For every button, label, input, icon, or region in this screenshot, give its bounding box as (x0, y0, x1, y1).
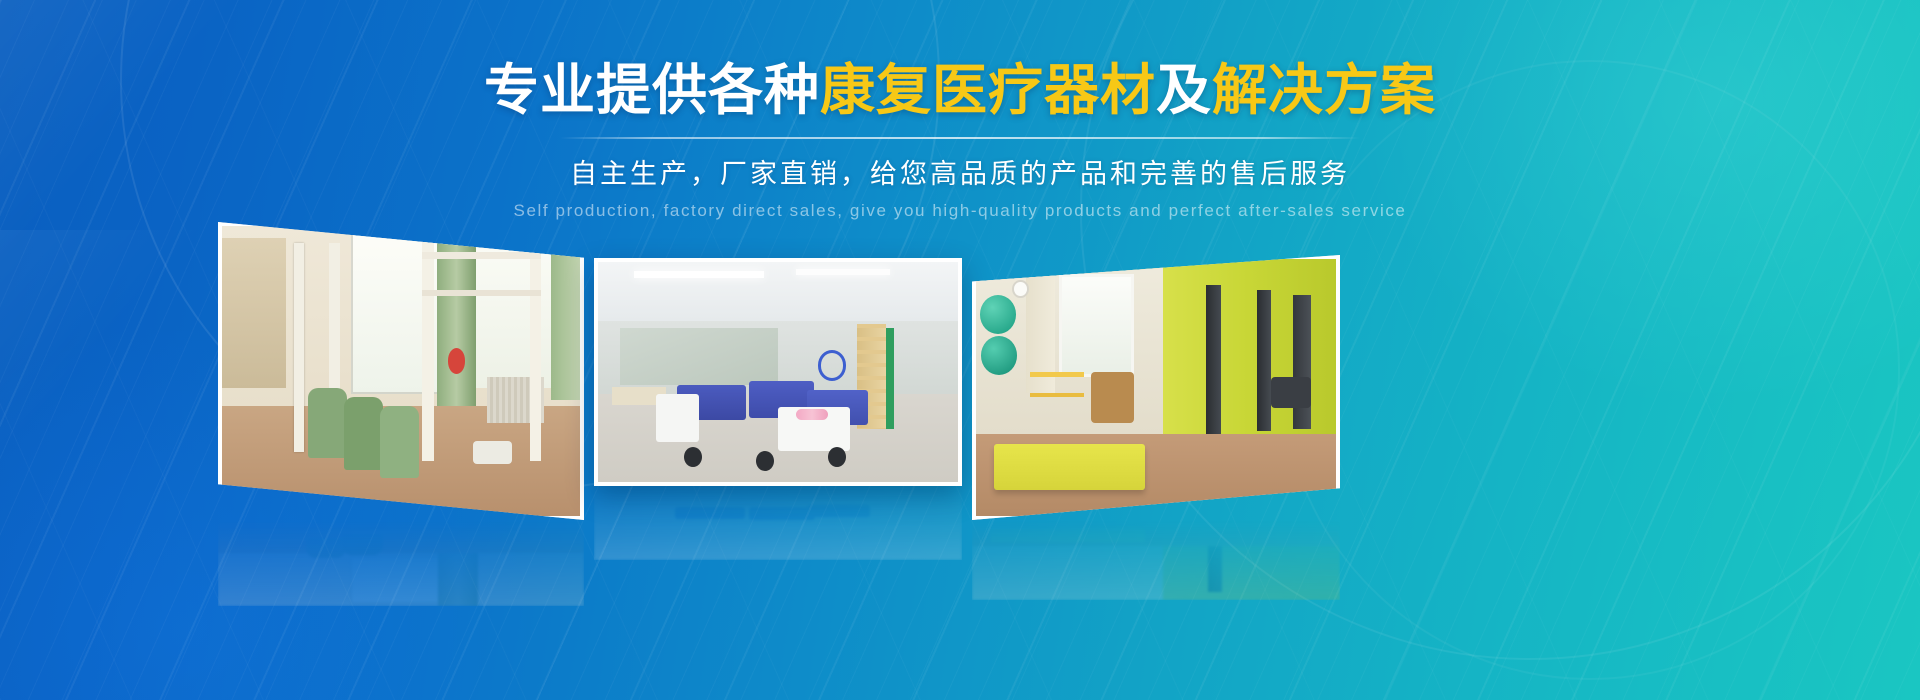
headline-segment-white-2: 及 (1156, 58, 1212, 122)
banner-subtitle-english: Self production, factory direct sales, g… (0, 201, 1920, 221)
banner-subtitle-chinese: 自主生产，厂家直销，给您高品质的产品和完善的售后服务 (0, 152, 1920, 191)
photo-gym-therapy-room[interactable] (972, 255, 1340, 520)
banner-text-block: 专业提供各种康复医疗器材及解决方案 自主生产，厂家直销，给您高品质的产品和完善的… (0, 62, 1920, 221)
headline-segment-yellow-2: 解决方案 (1212, 58, 1436, 122)
banner-headline: 专业提供各种康复医疗器材及解决方案 (0, 62, 1920, 120)
photo-rehabilitation-equipment-hall[interactable] (594, 258, 962, 486)
photo-rehabilitation-training-room[interactable] (218, 222, 584, 520)
photo-reflection-middle (594, 486, 962, 560)
promotional-banner: 专业提供各种康复医疗器材及解决方案 自主生产，厂家直销，给您高品质的产品和完善的… (0, 0, 1920, 700)
headline-segment-white-1: 专业提供各种 (484, 58, 820, 122)
photo-reflection-right (972, 520, 1340, 600)
photo-reflection-left (218, 520, 584, 606)
headline-segment-yellow-1: 康复医疗器材 (820, 58, 1156, 122)
headline-divider (560, 137, 1360, 139)
